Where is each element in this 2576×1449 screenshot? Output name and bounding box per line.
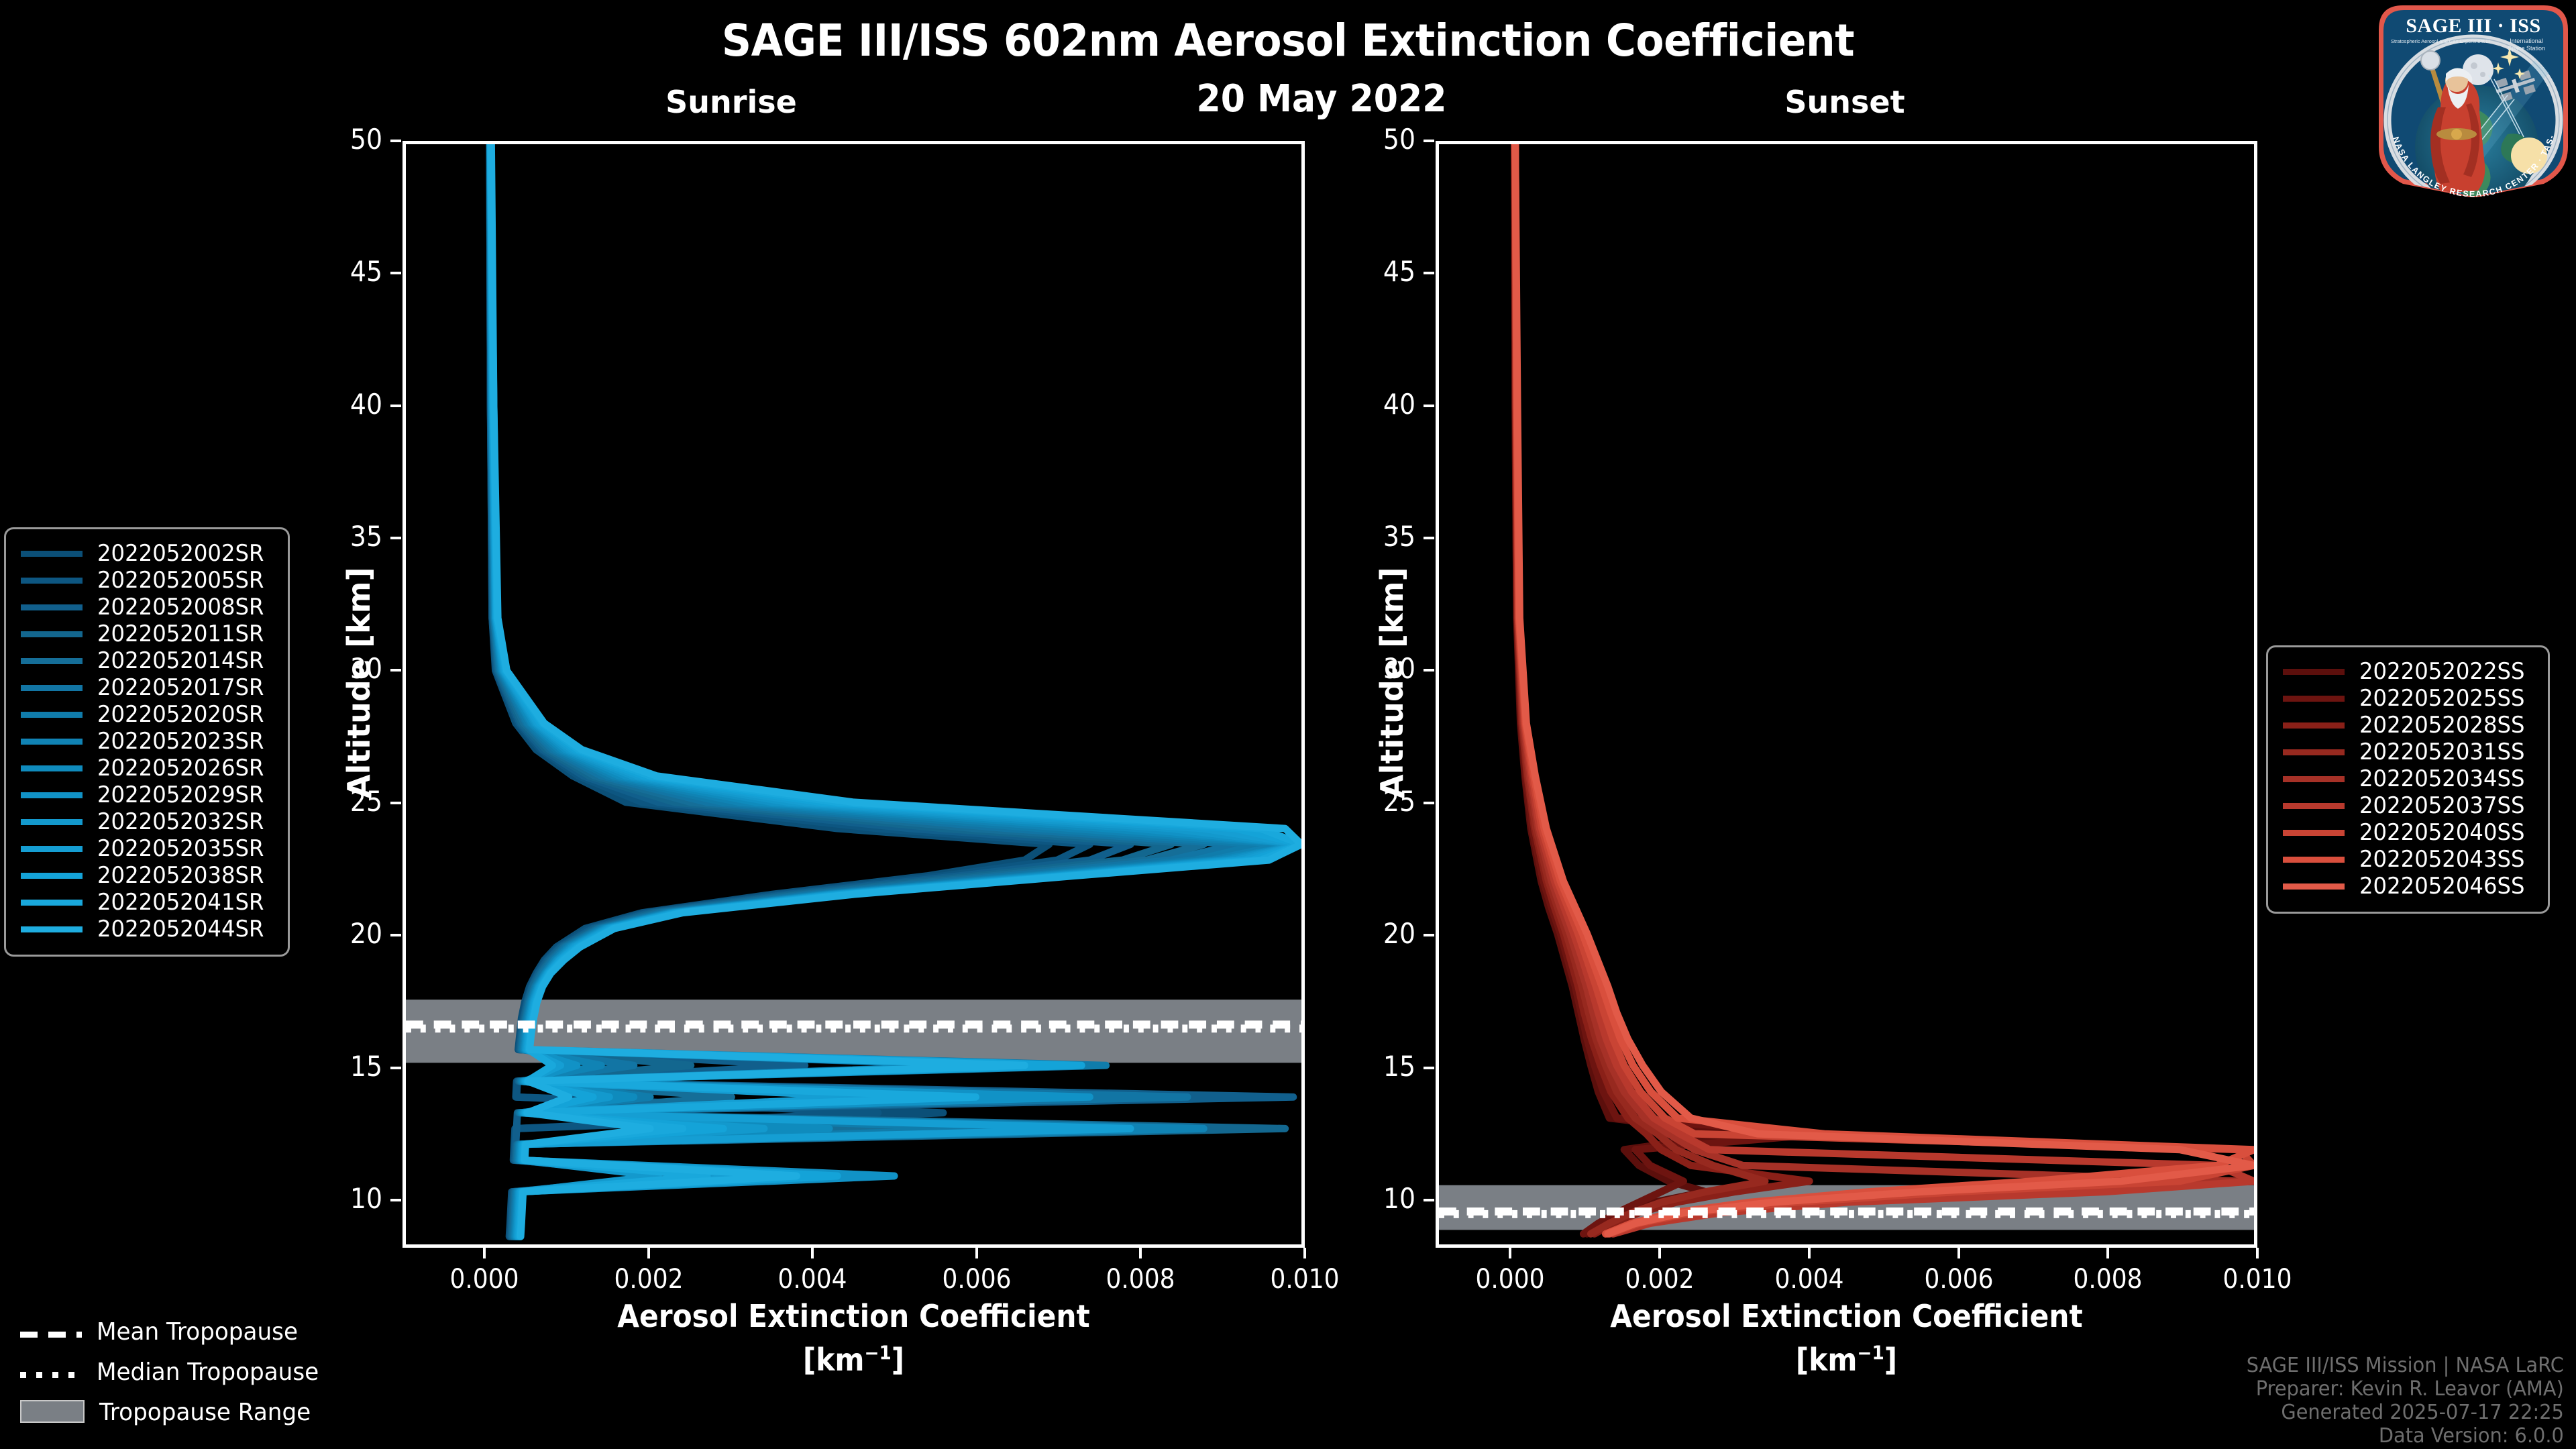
y-tick-mark	[390, 1199, 401, 1201]
y-tick-label: 20	[1343, 917, 1415, 950]
sunset-legend-item[interactable]: 2022052043SS	[2283, 846, 2533, 873]
x-tick-mark	[1658, 1248, 1661, 1258]
sunset-profile-chart	[1439, 144, 2254, 1244]
sunrise-legend-label: 2022052026SR	[97, 755, 264, 782]
sunset-legend-color-swatch	[2283, 803, 2345, 809]
profile-line	[1515, 144, 1810, 1234]
page-title: SAGE III/ISS 602nm Aerosol Extinction Co…	[90, 15, 2485, 66]
sunset-legend-item[interactable]: 2022052037SS	[2283, 792, 2533, 819]
tropopause-legend-item[interactable]: Median Tropopause	[20, 1352, 331, 1392]
sunrise-legend-label: 2022052020SR	[97, 701, 264, 728]
y-tick-mark	[1424, 1067, 1434, 1069]
sunset-legend-label: 2022052034SS	[2359, 765, 2525, 792]
x-tick-label: 0.004	[758, 1264, 867, 1295]
sunrise-legend-color-swatch	[21, 873, 83, 879]
y-tick-label: 40	[310, 388, 382, 421]
y-tick-mark	[390, 802, 401, 804]
x-tick-mark	[1303, 1248, 1306, 1258]
y-tick-label: 45	[1343, 255, 1415, 288]
sunset-legend-label: 2022052037SS	[2359, 792, 2525, 819]
sunrise-legend-label: 2022052044SR	[97, 916, 264, 943]
sunset-legend-color-swatch	[2283, 857, 2345, 863]
sunset-panel-title: Sunset	[1670, 84, 2019, 120]
sunrise-legend-item[interactable]: 2022052041SR	[21, 889, 273, 916]
credit-line: Preparer: Kevin R. Leavor (AMA)	[2247, 1377, 2564, 1401]
y-tick-mark	[1424, 802, 1434, 804]
sunrise-legend-item[interactable]: 2022052005SR	[21, 567, 273, 594]
credit-line: Generated 2025-07-17 22:25	[2247, 1401, 2564, 1424]
patch-title: SAGE III · ISS	[2406, 15, 2540, 37]
tropopause-dotted-marker-icon	[20, 1372, 82, 1378]
sunrise-legend-label: 2022052014SR	[97, 647, 264, 674]
y-tick-mark	[390, 669, 401, 672]
sunrise-legend-color-swatch	[21, 631, 83, 637]
sunset-y-axis-title: Altitude [km]	[1374, 567, 1410, 798]
x-tick-label: 0.010	[1250, 1264, 1359, 1295]
sunset-legend-label: 2022052046SS	[2359, 873, 2525, 900]
sunrise-legend-item[interactable]: 2022052020SR	[21, 701, 273, 728]
sunrise-legend-label: 2022052035SR	[97, 835, 264, 862]
sunrise-units-suffix: ]	[892, 1342, 904, 1378]
tropopause-patch-marker-icon	[20, 1400, 85, 1423]
x-tick-label: 0.008	[2053, 1264, 2162, 1295]
sunset-legend[interactable]: 2022052022SS2022052025SS2022052028SS2022…	[2266, 645, 2550, 914]
sunset-legend-item[interactable]: 2022052028SS	[2283, 712, 2533, 739]
sunrise-panel-title: Sunrise	[557, 84, 906, 120]
sunrise-legend-color-swatch	[21, 685, 83, 691]
sunset-legend-item[interactable]: 2022052022SS	[2283, 658, 2533, 685]
patch-subtitle-right-line1: International	[2510, 38, 2543, 44]
sunset-legend-label: 2022052022SS	[2359, 658, 2525, 685]
profile-line	[1515, 144, 1825, 1234]
y-tick-label: 45	[310, 255, 382, 288]
y-tick-mark	[1424, 405, 1434, 407]
x-tick-label: 0.004	[1755, 1264, 1864, 1295]
sunset-legend-item[interactable]: 2022052046SS	[2283, 873, 2533, 900]
patch-moon-crater	[2471, 62, 2477, 69]
sunrise-legend-color-swatch	[21, 900, 83, 906]
sunrise-legend-label: 2022052005SR	[97, 567, 264, 594]
sunset-legend-color-swatch	[2283, 776, 2345, 782]
sunrise-legend[interactable]: 2022052002SR2022052005SR2022052008SR2022…	[4, 527, 290, 957]
sunrise-legend-color-swatch	[21, 712, 83, 718]
x-tick-mark	[1957, 1248, 1960, 1258]
y-tick-label: 10	[310, 1182, 382, 1215]
sunset-legend-item[interactable]: 2022052034SS	[2283, 765, 2533, 792]
tropopause-legend-label: Median Tropopause	[97, 1358, 319, 1386]
sunset-legend-label: 2022052043SS	[2359, 846, 2525, 873]
y-tick-mark	[390, 140, 401, 142]
tropopause-dashed-marker-icon	[20, 1332, 82, 1338]
sunrise-legend-color-swatch	[21, 819, 83, 825]
tropopause-legend[interactable]: Mean TropopauseMedian TropopauseTropopau…	[20, 1311, 331, 1432]
x-tick-mark	[2106, 1248, 2109, 1258]
x-tick-mark	[483, 1248, 486, 1258]
x-tick-label: 0.006	[1904, 1264, 2013, 1295]
sunrise-legend-item[interactable]: 2022052002SR	[21, 540, 273, 567]
sunrise-legend-label: 2022052023SR	[97, 728, 264, 755]
sunrise-profile-chart	[406, 144, 1301, 1244]
tropopause-legend-label: Mean Tropopause	[97, 1318, 298, 1346]
credit-line: SAGE III/ISS Mission | NASA LaRC	[2247, 1354, 2564, 1377]
y-tick-label: 50	[310, 123, 382, 156]
y-tick-mark	[390, 537, 401, 539]
sunset-legend-color-swatch	[2283, 722, 2345, 729]
tropopause-legend-item[interactable]: Mean Tropopause	[20, 1311, 331, 1352]
sunrise-y-axis-title: Altitude [km]	[341, 567, 377, 798]
sunrise-legend-color-swatch	[21, 739, 83, 745]
sunset-legend-label: 2022052028SS	[2359, 712, 2525, 739]
sunrise-x-axis-title: Aerosol Extinction Coefficient	[439, 1298, 1269, 1334]
sunrise-legend-item[interactable]: 2022052008SR	[21, 594, 273, 621]
y-tick-label: 10	[1343, 1182, 1415, 1215]
sunrise-legend-label: 2022052038SR	[97, 862, 264, 889]
sunrise-legend-item[interactable]: 2022052032SR	[21, 808, 273, 835]
sunrise-legend-color-swatch	[21, 578, 83, 584]
sunset-legend-item[interactable]: 2022052031SS	[2283, 739, 2533, 765]
sunset-legend-label: 2022052031SS	[2359, 739, 2525, 765]
x-tick-mark	[647, 1248, 650, 1258]
sunset-legend-label: 2022052025SS	[2359, 685, 2525, 712]
sunset-units-prefix: [km	[1796, 1342, 1858, 1378]
x-tick-label: 0.002	[1605, 1264, 1714, 1295]
sunrise-legend-item[interactable]: 2022052026SR	[21, 755, 273, 782]
sunrise-legend-item[interactable]: 2022052023SR	[21, 728, 273, 755]
sunrise-legend-label: 2022052041SR	[97, 889, 264, 916]
sunrise-legend-color-swatch	[21, 792, 83, 798]
sunrise-x-axis-units: [km−1]	[439, 1342, 1269, 1378]
x-tick-mark	[811, 1248, 814, 1258]
sunrise-plot-area	[402, 141, 1305, 1248]
patch-moon-crater-2	[2480, 72, 2485, 77]
y-tick-label: 35	[1343, 520, 1415, 553]
y-tick-mark	[1424, 272, 1434, 274]
sunrise-legend-label: 2022052008SR	[97, 594, 264, 621]
sunrise-legend-color-swatch	[21, 551, 83, 557]
profile-line	[1515, 144, 2254, 1234]
sunrise-legend-item[interactable]: 2022052014SR	[21, 647, 273, 674]
x-tick-label: 0.000	[430, 1264, 539, 1295]
y-tick-label: 20	[310, 917, 382, 950]
sunrise-legend-item[interactable]: 2022052044SR	[21, 916, 273, 943]
sunset-legend-color-swatch	[2283, 669, 2345, 675]
x-tick-mark	[1509, 1248, 1511, 1258]
credits-block: SAGE III/ISS Mission | NASA LaRCPreparer…	[2233, 1354, 2564, 1448]
sunrise-legend-item[interactable]: 2022052011SR	[21, 621, 273, 647]
sunrise-legend-color-swatch	[21, 658, 83, 664]
y-tick-mark	[1424, 1199, 1434, 1201]
sunset-legend-label: 2022052040SS	[2359, 819, 2525, 846]
y-tick-mark	[390, 272, 401, 274]
sage-iii-iss-mission-patch-logo: SAGE III · ISS Stratospheric Aerosol and…	[2376, 3, 2571, 197]
x-tick-mark	[2256, 1248, 2259, 1258]
sunrise-units-exponent: −1	[864, 1342, 891, 1364]
tropopause-legend-label: Tropopause Range	[99, 1399, 311, 1426]
patch-subtitle-right-line2: Space Station	[2508, 45, 2545, 52]
y-tick-label: 35	[310, 520, 382, 553]
sunrise-legend-item[interactable]: 2022052029SR	[21, 782, 273, 808]
sunrise-legend-label: 2022052002SR	[97, 540, 264, 567]
sunset-legend-color-swatch	[2283, 830, 2345, 836]
x-tick-label: 0.008	[1086, 1264, 1195, 1295]
y-tick-mark	[390, 934, 401, 936]
sunset-legend-item[interactable]: 2022052025SS	[2283, 685, 2533, 712]
sunrise-legend-item[interactable]: 2022052017SR	[21, 674, 273, 701]
sunset-units-exponent: −1	[1857, 1342, 1884, 1364]
y-tick-label: 50	[1343, 123, 1415, 156]
y-tick-mark	[1424, 669, 1434, 672]
sunset-legend-item[interactable]: 2022052040SS	[2283, 819, 2533, 846]
sunrise-legend-label: 2022052017SR	[97, 674, 264, 701]
x-tick-label: 0.006	[922, 1264, 1031, 1295]
sunrise-legend-label: 2022052011SR	[97, 621, 264, 647]
sunrise-legend-item[interactable]: 2022052035SR	[21, 835, 273, 862]
sunset-legend-color-swatch	[2283, 883, 2345, 890]
sunrise-units-prefix: [km	[803, 1342, 865, 1378]
x-tick-label: 0.010	[2203, 1264, 2312, 1295]
sunrise-legend-item[interactable]: 2022052038SR	[21, 862, 273, 889]
credit-line: Data Version: 6.0.0	[2247, 1424, 2564, 1448]
sunrise-legend-color-swatch	[21, 926, 83, 932]
sunset-units-suffix: ]	[1884, 1342, 1897, 1378]
sunset-legend-color-swatch	[2283, 749, 2345, 755]
sunset-plot-area	[1436, 141, 2257, 1248]
y-tick-label: 15	[310, 1050, 382, 1083]
y-tick-mark	[390, 405, 401, 407]
y-tick-mark	[390, 1067, 401, 1069]
x-tick-label: 0.000	[1456, 1264, 1564, 1295]
x-tick-label: 0.002	[594, 1264, 703, 1295]
sunrise-legend-color-swatch	[21, 846, 83, 852]
y-tick-label: 40	[1343, 388, 1415, 421]
sunrise-legend-color-swatch	[21, 765, 83, 771]
patch-subtitle-left: Stratospheric Aerosol and Gas Experiment…	[2391, 38, 2490, 44]
y-tick-mark	[1424, 934, 1434, 936]
x-tick-mark	[1139, 1248, 1142, 1258]
sunrise-legend-label: 2022052029SR	[97, 782, 264, 808]
sunrise-legend-label: 2022052032SR	[97, 808, 264, 835]
y-tick-label: 15	[1343, 1050, 1415, 1083]
x-tick-mark	[975, 1248, 978, 1258]
y-tick-mark	[1424, 140, 1434, 142]
x-tick-mark	[1808, 1248, 1811, 1258]
sunset-legend-color-swatch	[2283, 696, 2345, 702]
sunset-x-axis-title: Aerosol Extinction Coefficient	[1468, 1298, 2224, 1334]
sunset-x-axis-units: [km−1]	[1468, 1342, 2224, 1378]
sunrise-legend-color-swatch	[21, 604, 83, 610]
y-tick-mark	[1424, 537, 1434, 539]
tropopause-legend-item[interactable]: Tropopause Range	[20, 1392, 331, 1432]
date-subtitle: 20 May 2022	[1104, 77, 1540, 121]
